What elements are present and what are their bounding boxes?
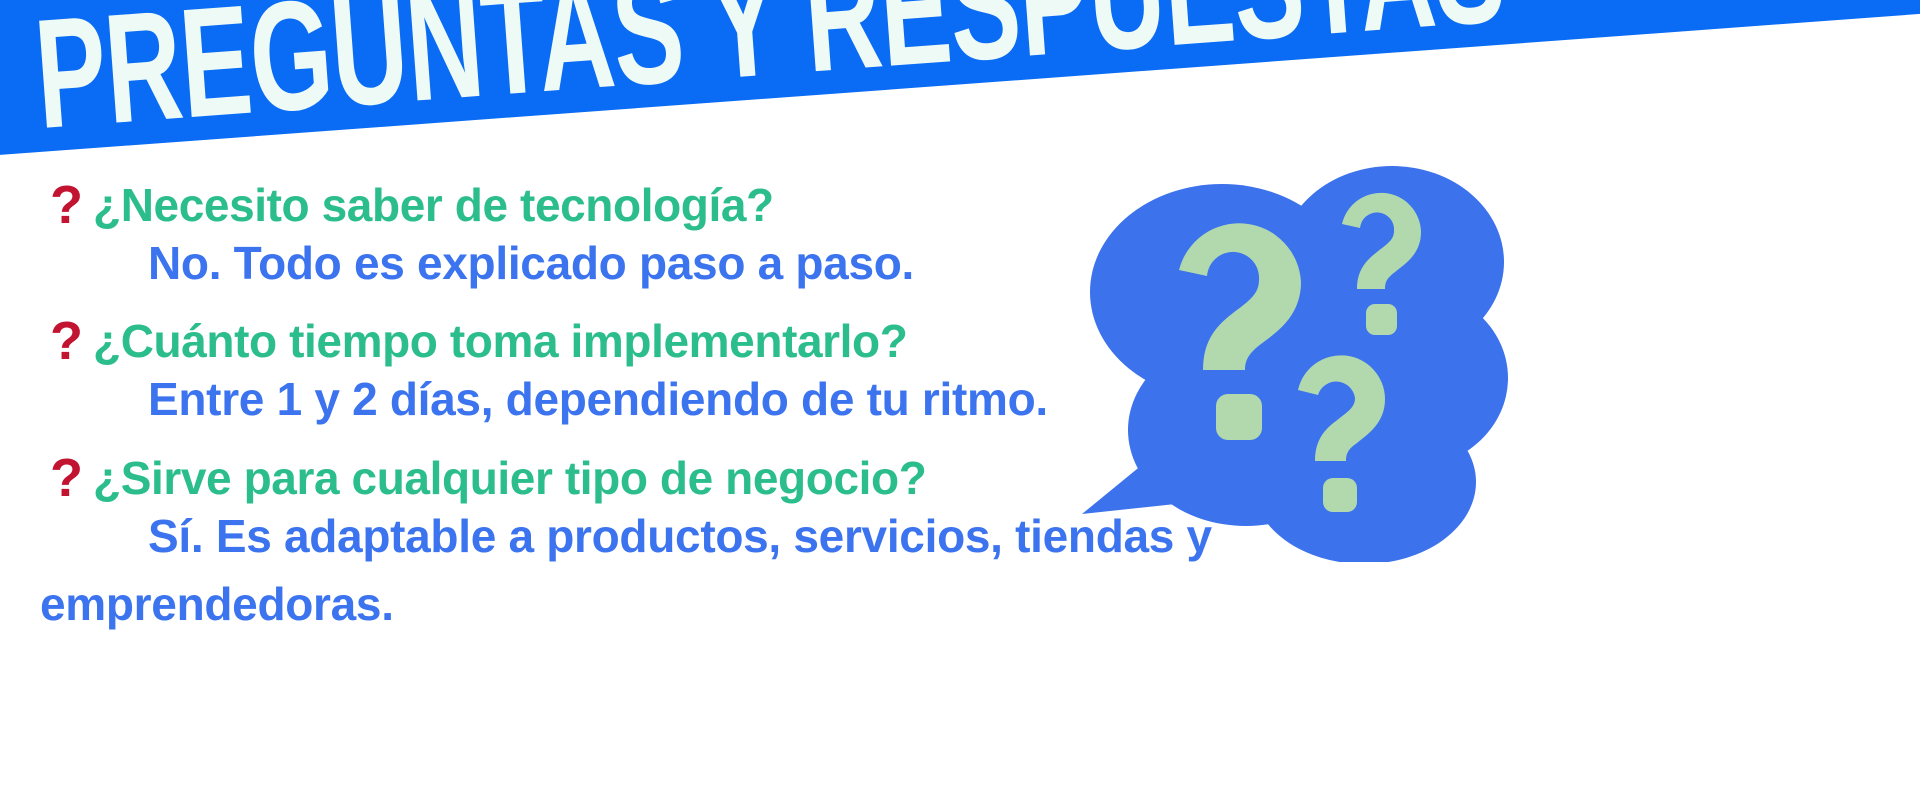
question-mark-icon: ? bbox=[50, 178, 83, 232]
faq-answer-3-line1: Sí. Es adaptable a productos, servicios,… bbox=[148, 510, 1212, 562]
faq-question-row-3: ? ¿Sirve para cualquier tipo de negocio? bbox=[0, 449, 1430, 503]
faq-answer-row-1: No. Todo es explicado paso a paso. bbox=[0, 236, 1430, 290]
faq-question-1: ¿Necesito saber de tecnología? bbox=[93, 181, 774, 229]
faq-item-3: ? ¿Sirve para cualquier tipo de negocio?… bbox=[0, 449, 1430, 632]
faq-answer-2: Entre 1 y 2 días, dependiendo de tu ritm… bbox=[148, 373, 1048, 425]
faq-item-2: ? ¿Cuánto tiempo toma implementarlo? Ent… bbox=[0, 312, 1430, 426]
page-title: PREGUNTAS Y RESPUESTAS bbox=[31, 0, 1508, 146]
question-mark-icon: ? bbox=[50, 314, 83, 368]
faq-list: ? ¿Necesito saber de tecnología? No. Tod… bbox=[0, 176, 1430, 653]
faq-answer-row-2: Entre 1 y 2 días, dependiendo de tu ritm… bbox=[0, 372, 1430, 426]
faq-answer-3-line2: emprendedoras. bbox=[40, 577, 1488, 631]
faq-question-2: ¿Cuánto tiempo toma implementarlo? bbox=[93, 317, 907, 365]
header-banner: PREGUNTAS Y RESPUESTAS bbox=[0, 0, 1920, 159]
faq-question-row-2: ? ¿Cuánto tiempo toma implementarlo? bbox=[0, 312, 1430, 366]
faq-question-row-1: ? ¿Necesito saber de tecnología? bbox=[0, 176, 1430, 230]
faq-item-1: ? ¿Necesito saber de tecnología? No. Tod… bbox=[0, 176, 1430, 290]
faq-answer-1: No. Todo es explicado paso a paso. bbox=[148, 237, 914, 289]
faq-question-3: ¿Sirve para cualquier tipo de negocio? bbox=[93, 454, 926, 502]
faq-answer-row-3: Sí. Es adaptable a productos, servicios,… bbox=[0, 509, 1488, 632]
faq-slide: PREGUNTAS Y RESPUESTAS bbox=[0, 0, 1920, 800]
faq-answer-3: Sí. Es adaptable a productos, servicios,… bbox=[148, 509, 1488, 632]
question-mark-icon: ? bbox=[50, 451, 83, 505]
